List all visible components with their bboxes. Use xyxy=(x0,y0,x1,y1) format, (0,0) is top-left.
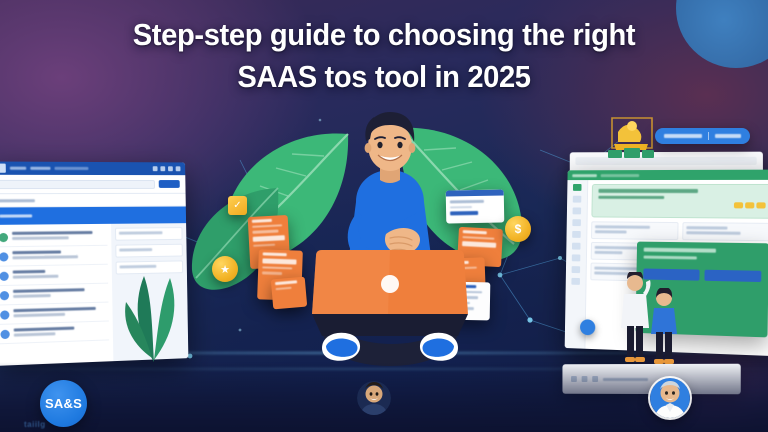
search-input[interactable] xyxy=(0,179,155,188)
avatar-icon[interactable] xyxy=(176,166,181,171)
avatar-bottom-center[interactable] xyxy=(357,381,391,415)
title-line-2: SAAS tos tool in 2025 xyxy=(23,56,745,98)
coin-icon-right: $ xyxy=(505,216,531,242)
grid-icon xyxy=(571,376,577,382)
grid-icon[interactable] xyxy=(160,166,165,171)
chart-icon[interactable] xyxy=(573,196,582,203)
hero-title xyxy=(598,189,698,193)
start-trial-button[interactable] xyxy=(704,270,761,282)
help-icon[interactable] xyxy=(168,166,173,171)
avatar xyxy=(0,233,8,242)
divider xyxy=(708,132,709,140)
list-item[interactable] xyxy=(0,265,108,286)
calendar-icon[interactable] xyxy=(572,243,581,250)
pricing-modal-buttons xyxy=(643,269,761,283)
download-button[interactable] xyxy=(655,128,750,144)
footer-label xyxy=(603,378,648,381)
stat-card[interactable] xyxy=(682,222,768,241)
download-button-secondary-label xyxy=(715,134,741,138)
avatar xyxy=(0,310,9,319)
list-item[interactable] xyxy=(0,227,107,247)
avatar xyxy=(0,330,9,339)
list-item[interactable] xyxy=(0,246,108,267)
badge-square-left: ✓ xyxy=(228,196,247,215)
doc-icon[interactable] xyxy=(573,207,582,214)
left-dashboard-topbar xyxy=(0,161,185,175)
home-icon[interactable] xyxy=(573,184,582,191)
stat-card[interactable] xyxy=(591,221,679,240)
banner-canvas: Step-step guide to choosing the right SA… xyxy=(0,0,768,432)
new-record-button[interactable] xyxy=(159,180,180,188)
avatar xyxy=(0,252,8,261)
record-list xyxy=(0,224,113,366)
work-items-banner xyxy=(0,207,186,225)
avatar xyxy=(0,291,9,300)
filter-icon xyxy=(592,376,598,382)
gear-icon[interactable] xyxy=(571,278,580,285)
person-standing-blue-top xyxy=(648,288,680,366)
workspace-label xyxy=(572,174,597,177)
folder-icon[interactable] xyxy=(572,254,581,261)
right-dashboard-topbar xyxy=(567,170,768,180)
list-icon xyxy=(582,376,588,382)
coin-glyph: $ xyxy=(515,222,522,236)
gold-trophy-box-decoration xyxy=(606,114,658,158)
avatar-bottom-right[interactable] xyxy=(650,378,690,418)
saas-badge[interactable]: SA&S xyxy=(40,380,87,427)
nav-item-settings[interactable] xyxy=(54,167,88,170)
list-item[interactable] xyxy=(0,321,109,344)
pricing-modal-title xyxy=(644,248,716,253)
plant-decoration xyxy=(118,232,190,362)
badge-glyph: ✓ xyxy=(233,200,241,211)
bell-icon[interactable] xyxy=(153,166,158,171)
coin-glyph: ★ xyxy=(220,263,230,276)
filter-label[interactable] xyxy=(0,199,35,202)
mail-icon[interactable] xyxy=(572,231,581,238)
left-dashboard-filterbar xyxy=(0,194,186,208)
avatar xyxy=(0,272,9,281)
title-line-1: Step-step guide to choosing the right xyxy=(23,14,745,56)
bottom-watermark: taiilg xyxy=(24,420,46,429)
left-dashboard-searchbar xyxy=(0,175,186,194)
seated-person-with-laptop xyxy=(300,108,480,378)
saas-badge-label: SA&S xyxy=(45,396,82,411)
nav-item-reports[interactable] xyxy=(30,167,50,170)
topbar-icon-group xyxy=(153,166,181,171)
coin-stack-decoration xyxy=(734,202,766,208)
person-standing-white-coat xyxy=(618,272,652,364)
coin-icon-left: ★ xyxy=(212,256,238,282)
page-title: Step-step guide to choosing the right SA… xyxy=(0,14,768,98)
tag-icon[interactable] xyxy=(572,266,581,273)
users-icon[interactable] xyxy=(572,219,581,226)
work-items-label xyxy=(0,214,32,218)
download-button-label xyxy=(664,134,702,138)
app-logo-icon xyxy=(0,164,6,173)
nav-item-home[interactable] xyxy=(10,167,26,170)
